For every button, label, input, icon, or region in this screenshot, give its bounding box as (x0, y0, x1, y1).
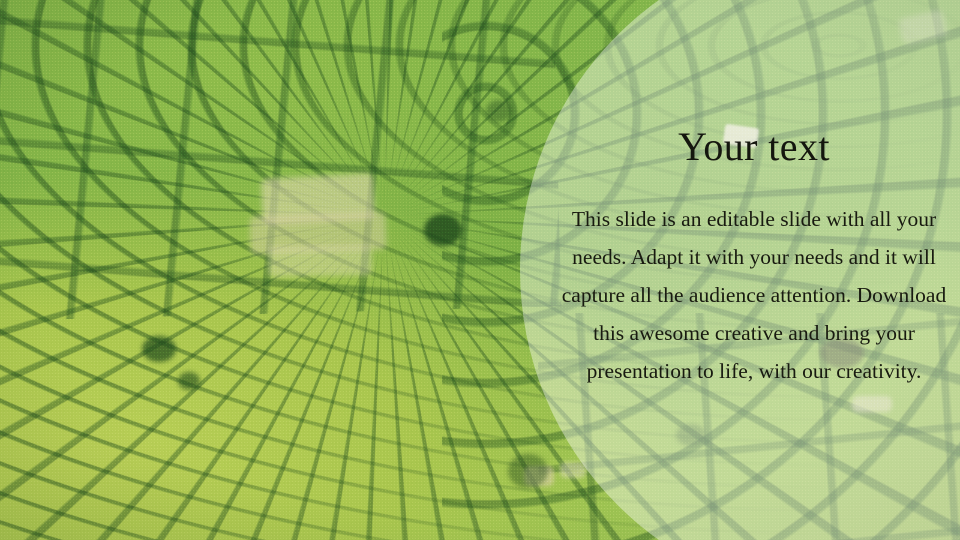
slide-body-text[interactable]: This slide is an editable slide with all… (556, 200, 952, 390)
presentation-slide: Your text This slide is an editable slid… (0, 0, 960, 540)
slide-title[interactable]: Your text (556, 126, 952, 168)
text-content-block: Your text This slide is an editable slid… (556, 126, 952, 390)
